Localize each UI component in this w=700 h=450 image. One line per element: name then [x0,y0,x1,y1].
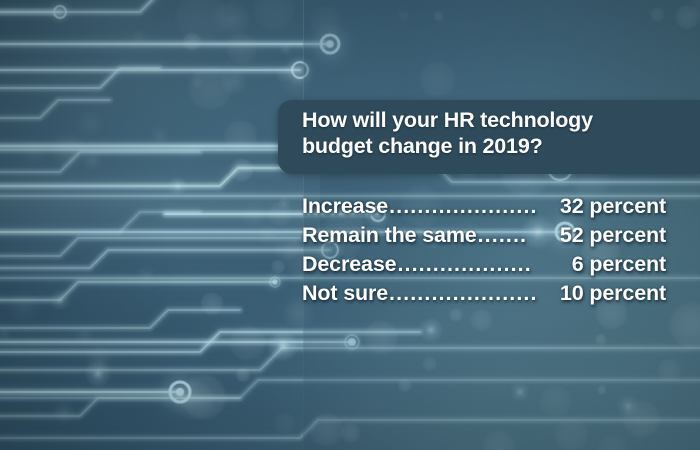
result-value: 10 percent [558,279,666,308]
result-number: 6 [558,250,584,279]
result-number: 32 [558,192,584,221]
slide-canvas: How will your HR technology budget chang… [0,0,700,450]
result-value: 32 percent [558,192,666,221]
result-unit: percent [589,252,666,276]
dot-leader: ..................... [389,192,556,221]
result-number: 10 [558,279,584,308]
result-label: Increase [302,192,388,221]
poll-results-list: Increase ..................... 32 percen… [302,192,666,308]
title-line-1: How will your HR technology [302,108,692,134]
result-label: Decrease [302,250,396,279]
result-label: Remain the same [302,221,477,250]
result-row: Remain the same ....... 52 percent [302,221,666,250]
result-value: 6 percent [558,250,666,279]
page-title: How will your HR technology budget chang… [302,108,692,159]
result-unit: percent [589,281,666,305]
result-row: Not sure ..................... 10 percen… [302,279,666,308]
result-label: Not sure [302,279,388,308]
dot-leader: ..................... [389,279,557,308]
result-row: Increase ..................... 32 percen… [302,192,666,221]
result-value: 52 percent [558,221,666,250]
result-unit: percent [589,223,666,247]
result-number: 52 [558,221,584,250]
result-unit: percent [589,194,666,218]
title-line-2: budget change in 2019? [302,134,692,160]
dot-leader: ................... [397,250,556,279]
dot-leader: ....... [478,221,557,250]
result-row: Decrease ................... 6 percent [302,250,666,279]
